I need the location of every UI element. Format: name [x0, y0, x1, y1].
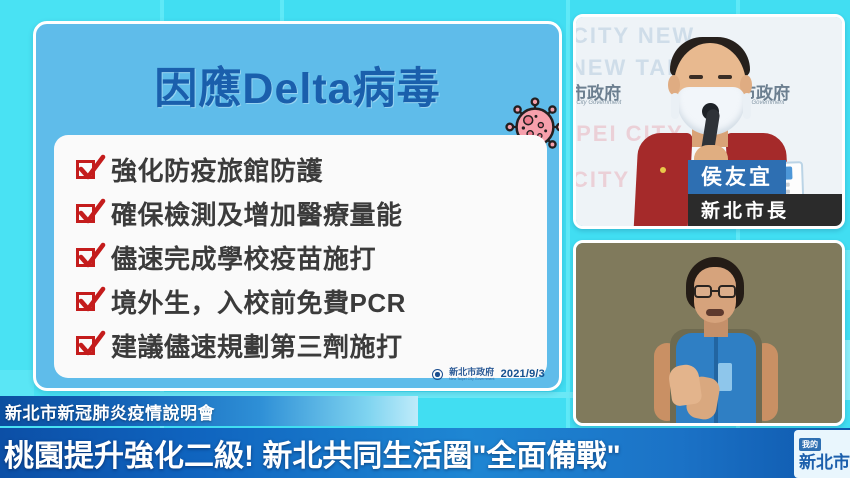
card-footer: 新北市政府 New Taipei City Government 2021/9/…	[432, 368, 545, 381]
backdrop-watermark: CITY	[573, 167, 630, 193]
eyeglasses-icon	[694, 285, 712, 298]
bullet-text: 建議儘速規劃第三劑施打	[111, 327, 403, 364]
headline-bar: 桃園提升強化二級! 新北共同生活圈"全面備戰"	[0, 428, 850, 478]
interpreter-mouth	[706, 309, 724, 316]
bullet-text: 確保檢測及增加醫療量能	[111, 195, 403, 232]
interpreter-backdrop	[576, 243, 842, 423]
city-government-seal-icon	[432, 369, 443, 380]
speaker-eye-left	[689, 75, 703, 79]
broadcast-screen: 因應Delta病毒	[0, 0, 850, 478]
list-item: 建議儘速規劃第三劑施打	[76, 323, 547, 367]
channel-logo-title: 新北市	[799, 453, 850, 473]
gov-logo: 新北市政府 New Taipei City Government	[449, 368, 495, 381]
backdrop-gov-en-left: ei City Government	[573, 100, 621, 106]
bullet-text: 強化防疫旅館防護	[111, 151, 323, 188]
speaker-eye-right	[718, 75, 732, 79]
channel-logo-tag: 我的	[799, 438, 821, 451]
checkbox-checked-icon	[76, 160, 95, 179]
eyeglasses-bridge-icon	[712, 290, 718, 292]
subcaption-text: 新北市新冠肺炎疫情說明會	[0, 399, 215, 424]
list-item: 境外生，入校前免費PCR	[76, 279, 547, 323]
info-slide-card: 因應Delta病毒	[33, 21, 562, 391]
list-item: 儘速完成學校疫苗施打	[76, 235, 547, 279]
speaker-name: 侯友宜	[688, 160, 786, 194]
interpreter-vest-badge	[718, 363, 732, 391]
bullet-text: 儘速完成學校疫苗施打	[111, 239, 376, 276]
eyeglasses-icon	[718, 285, 736, 298]
headline-text: 桃園提升強化二級! 新北共同生活圈"全面備戰"	[0, 431, 621, 475]
channel-logo: 我的 新北市	[794, 430, 850, 478]
slide-title: 因應Delta病毒	[36, 54, 559, 116]
video-panel-interpreter[interactable]	[573, 240, 845, 426]
subcaption-bar: 新北市新冠肺炎疫情說明會	[0, 396, 418, 426]
speaker-vest-left	[633, 133, 692, 229]
list-item: 確保檢測及增加醫療量能	[76, 191, 547, 235]
checkbox-checked-icon	[76, 292, 95, 311]
list-item: 強化防疫旅館防護	[76, 147, 547, 191]
speaker-nameplate: 侯友宜 新北市長	[688, 160, 845, 226]
gov-name-cn: 新北市政府	[449, 368, 495, 377]
backdrop-watermark: CITY NEW	[573, 23, 695, 49]
video-panel-speaker[interactable]: CITY NEW NEW TAIPEI IPEI CITY CITY 市政府 e…	[573, 14, 845, 229]
checkbox-checked-icon	[76, 248, 95, 267]
checkbox-checked-icon	[76, 336, 95, 355]
background-tile	[0, 370, 34, 396]
speaker-lapel-pin	[660, 167, 666, 173]
gov-name-en: New Taipei City Government	[449, 377, 495, 381]
date-stamp: 2021/9/3	[501, 368, 545, 380]
bullet-panel: 強化防疫旅館防護 確保檢測及增加醫療量能	[54, 135, 547, 378]
checkbox-checked-icon	[76, 204, 95, 223]
bullet-list: 強化防疫旅館防護 確保檢測及增加醫療量能	[54, 135, 547, 367]
speaker-title: 新北市長	[688, 194, 845, 226]
podium-backdrop: CITY NEW NEW TAIPEI IPEI CITY CITY 市政府 e…	[576, 17, 842, 226]
bullet-text: 境外生，入校前免費PCR	[111, 283, 406, 320]
background-tile	[566, 0, 570, 478]
